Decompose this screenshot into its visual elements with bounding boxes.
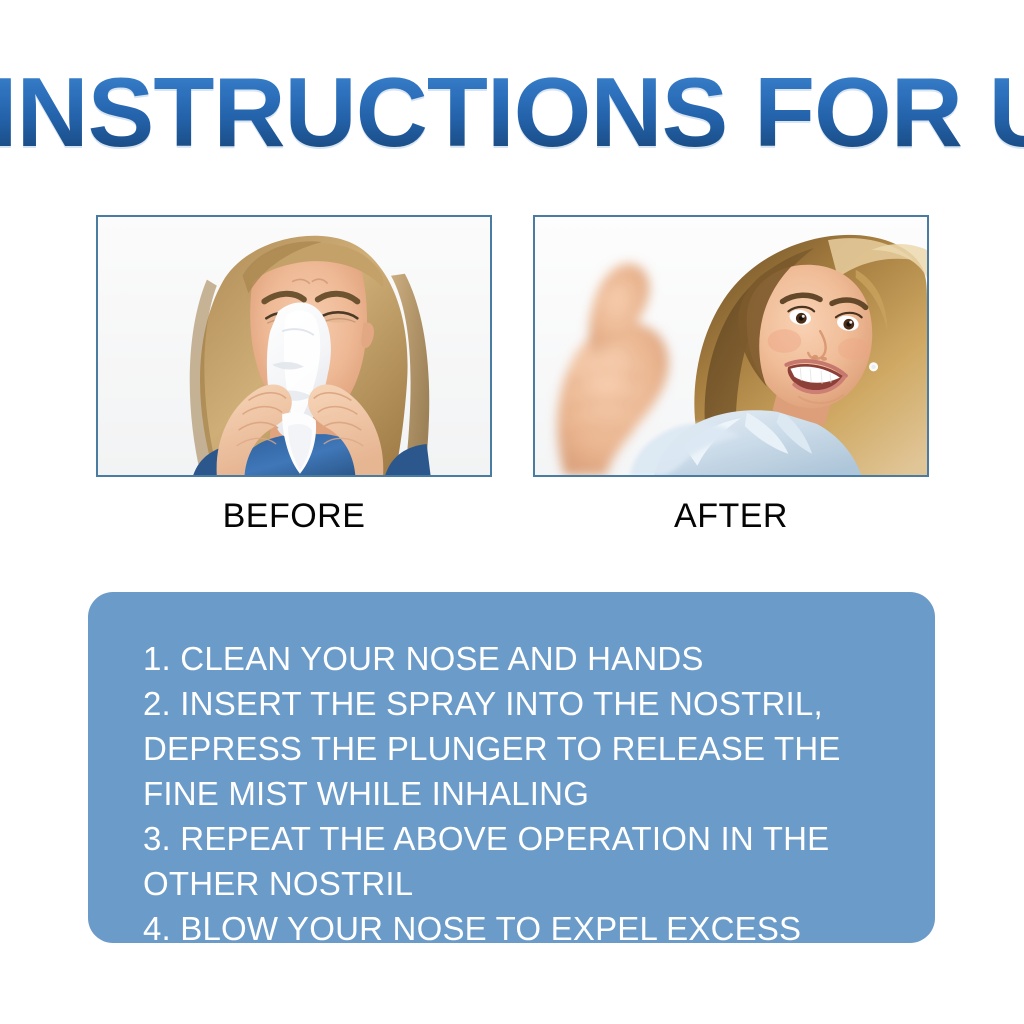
instruction-step-list: 1. CLEAN YOUR NOSE AND HANDS 2. INSERT T… — [143, 636, 903, 996]
before-photo — [98, 217, 490, 475]
before-label: BEFORE — [96, 496, 492, 536]
page-title: INSTRUCTIONS FOR USE — [0, 62, 1024, 162]
instruction-step: 1. CLEAN YOUR NOSE AND HANDS — [143, 636, 903, 681]
instruction-step: 3. REPEAT THE ABOVE OPERATION IN THE OTH… — [143, 816, 903, 906]
after-photo — [535, 217, 927, 475]
after-label: AFTER — [533, 496, 929, 536]
instructions-for-use-graphic: INSTRUCTIONS FOR USE INSTRUCTIONS FOR US… — [0, 0, 1024, 1024]
after-photo-frame — [533, 215, 929, 477]
instruction-step: 4. BLOW YOUR NOSE TO EXPEL EXCESS FLUID — [143, 906, 903, 996]
instructions-panel: 1. CLEAN YOUR NOSE AND HANDS 2. INSERT T… — [88, 592, 935, 943]
before-photo-frame — [96, 215, 492, 477]
instruction-step: 2. INSERT THE SPRAY INTO THE NOSTRIL, DE… — [143, 681, 903, 816]
